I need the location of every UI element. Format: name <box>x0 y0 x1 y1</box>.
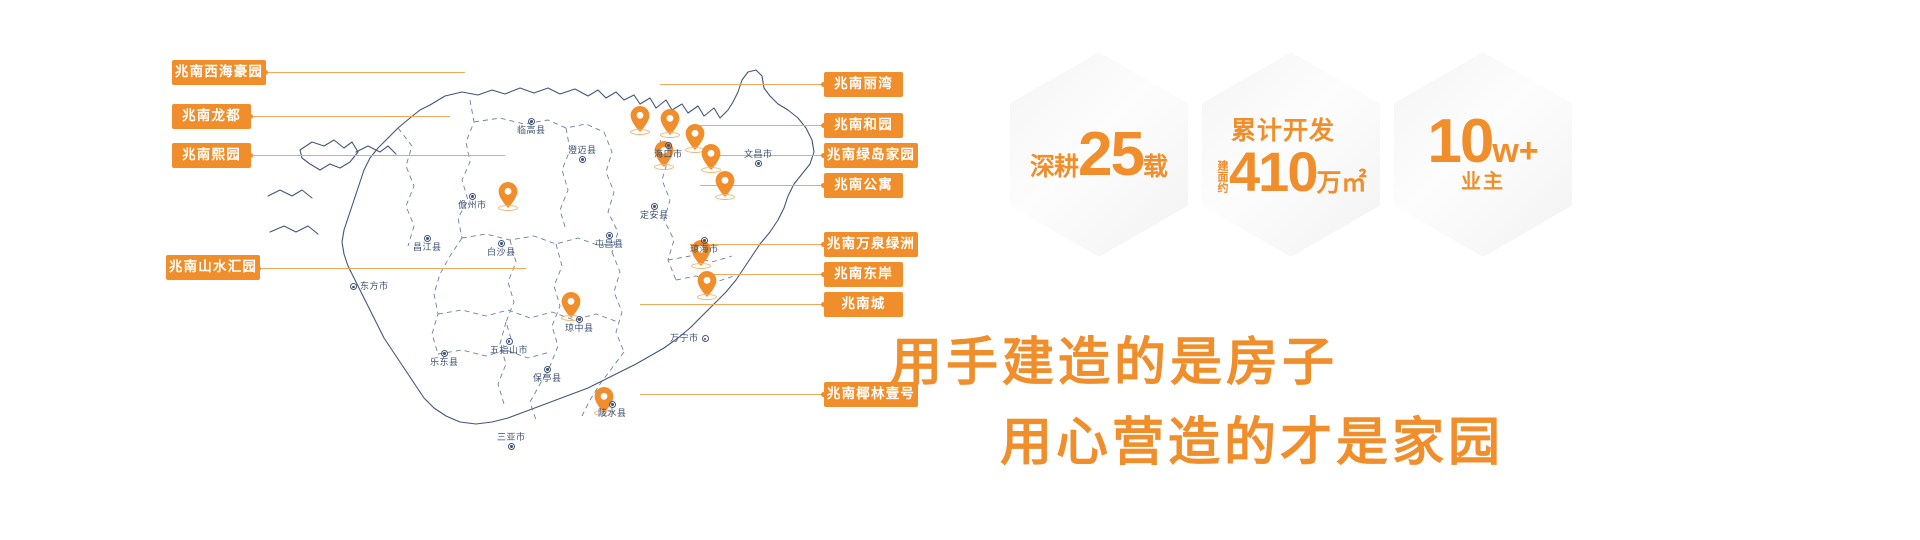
city-label: 三亚市 <box>497 432 526 442</box>
city-label: 琼中县 <box>565 323 594 333</box>
hex-stat-area-content: 建面约 累计开发 410 万 ㎡ <box>1215 111 1366 199</box>
hex-stat-owners: 10 w+ 业主 <box>1394 52 1572 257</box>
city-label: 临高县 <box>517 125 546 135</box>
city-dot-icon <box>441 350 448 357</box>
lead-line <box>660 84 824 85</box>
city-dongfang: 东方市 <box>350 282 389 292</box>
city-haikou: 海口市 <box>654 142 683 160</box>
city-dot-icon <box>665 142 672 149</box>
hex-stat-years-content: 深耕 25 载 <box>1030 127 1168 183</box>
location-pin-icon[interactable] <box>696 270 718 300</box>
pin-shadow <box>691 263 711 269</box>
city-label: 东方市 <box>360 282 389 292</box>
lead-line <box>640 394 824 395</box>
city-label: 陵水县 <box>598 408 627 418</box>
pin-shadow <box>660 132 680 138</box>
promo-banner: 兆南西海豪园 兆南龙都 兆南熙园 兆南山水汇园 兆南丽湾 兆南和园 兆南绿岛家园 <box>0 0 1920 540</box>
callout-longdu[interactable]: 兆南龙都 <box>172 104 251 129</box>
city-dot-icon <box>701 237 708 244</box>
location-pin-icon[interactable] <box>629 105 651 135</box>
city-label: 定安县 <box>640 210 669 220</box>
hex1-suffix: 载 <box>1143 147 1168 183</box>
callout-zhaonancheng[interactable]: 兆南城 <box>824 292 903 317</box>
city-lingshui: 陵水县 <box>598 401 627 419</box>
city-dot-icon <box>606 232 613 239</box>
hex-stat-1-wrap: 深耕 25 载 <box>1010 52 1188 257</box>
callout-wanquanlvzhou[interactable]: 兆南万泉绿洲 <box>824 232 918 257</box>
city-dot-icon <box>755 160 762 167</box>
callout-gongyu[interactable]: 兆南公寓 <box>824 173 903 198</box>
location-pin-icon[interactable] <box>700 143 722 173</box>
hex-stat-2-wrap: 建面约 累计开发 410 万 ㎡ <box>1202 52 1380 257</box>
location-pin-icon[interactable] <box>714 170 736 200</box>
city-label: 海口市 <box>654 149 683 159</box>
lead-line <box>258 268 526 269</box>
city-baoting: 保亭县 <box>533 366 562 384</box>
hex3-number: 10 <box>1427 116 1492 169</box>
stats-panel: 深耕 25 载 建面约 累计开发 410 万 <box>960 0 1920 540</box>
city-dot-icon <box>508 443 515 450</box>
city-dot-icon <box>498 240 505 247</box>
city-dot-icon <box>469 193 476 200</box>
city-label: 昌江县 <box>413 242 442 252</box>
pin-shadow <box>697 294 717 300</box>
callout-heyuan[interactable]: 兆南和园 <box>824 113 903 138</box>
hex2-square-meter: ㎡ <box>1341 163 1366 199</box>
city-dot-icon <box>576 316 583 323</box>
hex-stat-years: 深耕 25 载 <box>1010 52 1188 257</box>
lead-line <box>250 116 450 117</box>
lead-line <box>700 274 824 275</box>
city-dot-icon <box>424 235 431 242</box>
lead-line <box>640 304 824 305</box>
city-ledong: 乐东县 <box>430 350 459 368</box>
pin-shadow <box>498 205 518 211</box>
hex2-unit: 万 <box>1316 163 1341 199</box>
city-dot-icon <box>544 366 551 373</box>
city-baisha: 白沙县 <box>487 240 516 258</box>
city-dot-icon <box>609 401 616 408</box>
city-wuzhishan: 五指山市 <box>490 338 528 356</box>
city-label: 屯昌县 <box>595 239 624 249</box>
location-pin-icon[interactable] <box>659 108 681 138</box>
location-pin-icon[interactable] <box>497 181 519 211</box>
city-dot-icon <box>651 203 658 210</box>
city-wenchang: 文昌市 <box>744 150 773 168</box>
hex-stat-area: 建面约 累计开发 410 万 ㎡ <box>1202 52 1380 257</box>
city-dot-icon <box>528 118 535 125</box>
city-label: 乐东县 <box>430 357 459 367</box>
callout-liwan[interactable]: 兆南丽湾 <box>824 72 903 97</box>
city-qionghai: 琼海市 <box>690 237 719 255</box>
hex1-prefix: 深耕 <box>1030 147 1078 183</box>
lead-line <box>700 125 824 126</box>
hex-stats-row: 深耕 25 载 建面约 累计开发 410 万 <box>1010 52 1572 257</box>
callout-xiyuan[interactable]: 兆南熙园 <box>172 143 251 168</box>
city-label: 儋州市 <box>458 200 487 210</box>
hex2-vertical-label: 建面约 <box>1215 160 1227 193</box>
city-qiongzhong: 琼中县 <box>565 316 594 334</box>
city-label: 琼海市 <box>690 244 719 254</box>
callout-shanshuihuiyuan[interactable]: 兆南山水汇园 <box>166 255 260 280</box>
hex2-number: 410 <box>1229 147 1316 197</box>
map-panel: 兆南西海豪园 兆南龙都 兆南熙园 兆南山水汇园 兆南丽湾 兆南和园 兆南绿岛家园 <box>0 0 960 540</box>
city-wanning: 万宁市 <box>670 334 709 344</box>
pin-shadow <box>654 164 674 170</box>
city-chengmai: 澄迈县 <box>568 146 597 164</box>
hex-stat-3-wrap: 10 w+ 业主 <box>1394 52 1572 257</box>
lead-line <box>265 72 465 73</box>
callout-dongan[interactable]: 兆南东岸 <box>824 262 903 287</box>
city-label: 五指山市 <box>490 345 528 355</box>
city-dot-icon <box>702 335 709 342</box>
city-sanya: 三亚市 <box>497 433 526 451</box>
city-label: 文昌市 <box>744 149 773 159</box>
city-label: 保亭县 <box>533 373 562 383</box>
city-danzhou: 儋州市 <box>458 193 487 211</box>
city-label: 白沙县 <box>487 247 516 257</box>
city-tunchang: 屯昌县 <box>595 232 624 250</box>
city-dot-icon <box>506 338 513 345</box>
hex-stat-owners-content: 10 w+ 业主 <box>1427 116 1538 194</box>
city-changjiang: 昌江县 <box>413 235 442 253</box>
hainan-map-outline <box>0 0 960 540</box>
lead-line <box>250 155 505 156</box>
pin-shadow <box>715 194 735 200</box>
city-label: 澄迈县 <box>568 145 597 155</box>
city-lingao: 临高县 <box>517 118 546 136</box>
callout-lvdaojiayuan[interactable]: 兆南绿岛家园 <box>824 143 918 168</box>
city-dot-icon <box>350 283 357 290</box>
city-label: 万宁市 <box>670 334 699 344</box>
pin-shadow <box>630 129 650 135</box>
city-dot-icon <box>579 156 586 163</box>
city-dingan: 定安县 <box>640 203 669 221</box>
callout-xihaihaoyuan[interactable]: 兆南西海豪园 <box>172 60 266 85</box>
slogan-line-1: 用手建造的是房子 <box>890 320 1338 395</box>
hex1-number: 25 <box>1078 127 1143 183</box>
slogan-line-2: 用心营造的才是家园 <box>1000 400 1504 475</box>
